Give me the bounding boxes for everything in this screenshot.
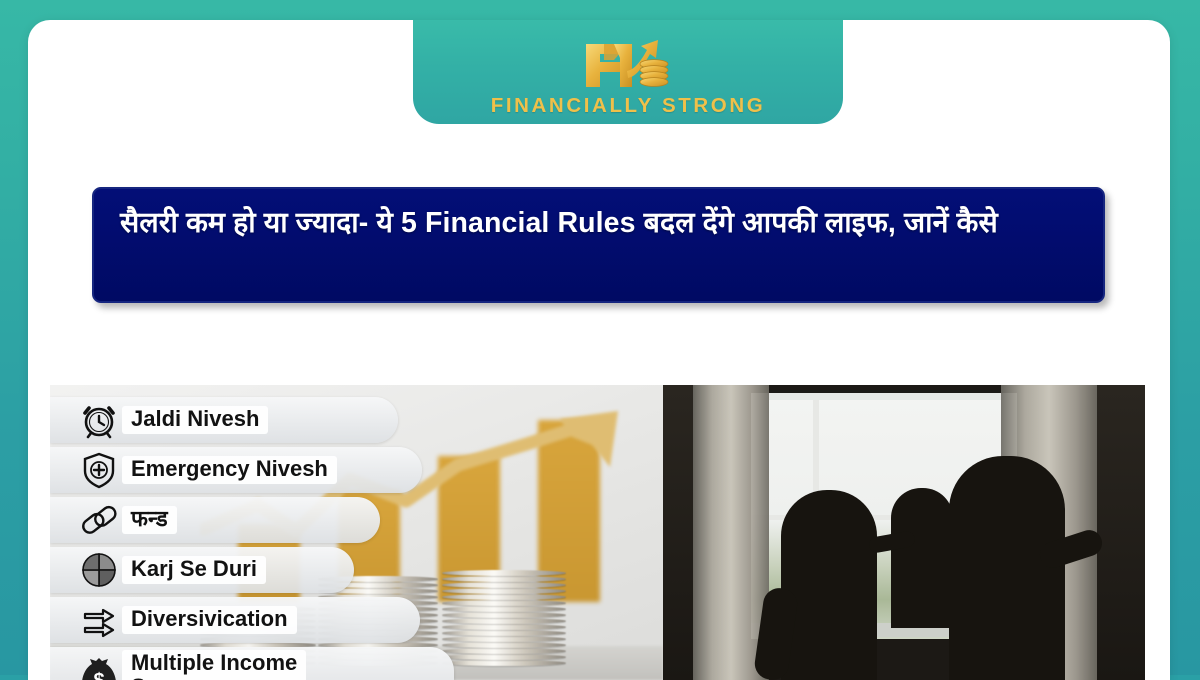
swap-arrows-icon bbox=[76, 600, 122, 640]
person-silhouette bbox=[781, 490, 877, 680]
brand-name: FINANCIALLY STRONG bbox=[491, 94, 766, 118]
list-item-label: Multiple Income Sources bbox=[122, 650, 306, 680]
list-item[interactable]: फन्ड bbox=[50, 497, 380, 543]
shield-plus-icon bbox=[76, 450, 122, 490]
headline-text: सैलरी कम हो या ज्यादा- ये 5 Financial Ru… bbox=[120, 205, 998, 243]
list-item-label: Jaldi Nivesh bbox=[122, 406, 268, 433]
pie-chart-icon bbox=[76, 550, 122, 590]
list-item-label: Emergency Nivesh bbox=[122, 456, 337, 483]
person-silhouette bbox=[949, 456, 1065, 680]
child-silhouette bbox=[891, 488, 953, 628]
list-item[interactable]: Diversivication bbox=[50, 597, 420, 643]
money-bag-icon: $ bbox=[76, 655, 122, 680]
brand-header-tab: FINANCIALLY STRONG bbox=[413, 20, 843, 124]
list-item[interactable]: Karj Se Duri bbox=[50, 547, 354, 593]
feature-image: Jaldi Nivesh Emergency Nivesh bbox=[50, 385, 1145, 680]
content-card: FINANCIALLY STRONG सैलरी कम हो या ज्यादा… bbox=[28, 20, 1170, 680]
alarm-clock-icon bbox=[76, 400, 122, 440]
chain-link-icon bbox=[76, 500, 122, 540]
list-item[interactable]: Jaldi Nivesh bbox=[50, 397, 398, 443]
list-item-label: फन्ड bbox=[122, 506, 177, 533]
svg-text:$: $ bbox=[93, 670, 104, 680]
list-item-label: Karj Se Duri bbox=[122, 556, 266, 583]
feature-list: Jaldi Nivesh Emergency Nivesh bbox=[50, 385, 530, 680]
list-item-label: Diversivication bbox=[122, 606, 297, 633]
list-item[interactable]: $ Multiple Income Sources bbox=[50, 647, 454, 680]
page-background: FINANCIALLY STRONG सैलरी कम हो या ज्यादा… bbox=[0, 0, 1200, 675]
headline-banner: सैलरी कम हो या ज्यादा- ये 5 Financial Ru… bbox=[92, 187, 1105, 303]
feature-image-right-panel bbox=[663, 385, 1145, 680]
financial-growth-logo-icon bbox=[570, 32, 686, 92]
list-item[interactable]: Emergency Nivesh bbox=[50, 447, 422, 493]
